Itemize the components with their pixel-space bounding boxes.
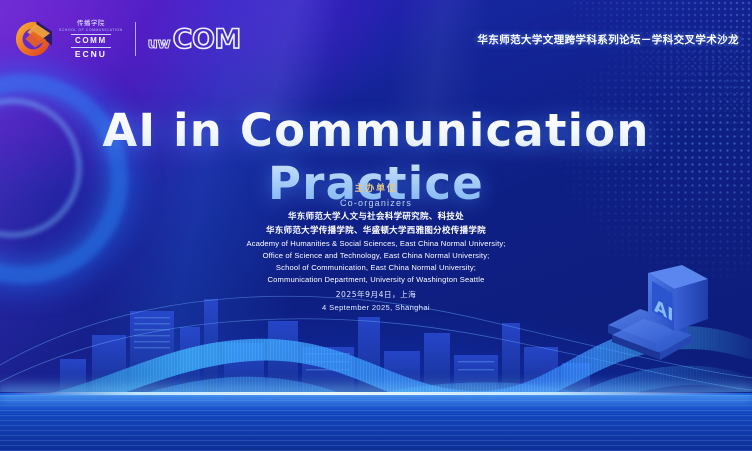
ecnu-divider-rule	[71, 34, 111, 35]
ecnu-comm-text: COMM	[75, 37, 107, 45]
ecnu-logo[interactable]: 传播学院 SCHOOL OF COMMUNICATION COMM ECNU	[14, 20, 123, 58]
ecnu-abbr-text: ECNU	[75, 50, 107, 59]
ecnu-wordmark: 传播学院 SCHOOL OF COMMUNICATION COMM ECNU	[59, 20, 123, 58]
event-date-block: 2025年9月4日，上海 4 September 2025, Shanghai	[0, 288, 752, 315]
ecnu-c-mark-icon	[14, 20, 52, 58]
organizer-line-en: Academy of Humanities & Social Sciences,…	[0, 238, 752, 250]
logo-group: 传播学院 SCHOOL OF COMMUNICATION COMM ECNU u…	[14, 20, 241, 58]
organizers-block: 主办单位 Co-organizers 华东师范大学人文与社会科学研究院、科技处 …	[0, 183, 752, 286]
uw-com-logo[interactable]: uw COM	[148, 24, 241, 55]
floor-grid-lines	[0, 393, 752, 451]
uw-logo-big-text: COM	[173, 24, 241, 55]
ecnu-divider-rule-2	[71, 47, 111, 48]
event-date-cn: 2025年9月4日，上海	[0, 288, 752, 301]
organizer-line-en: Office of Science and Technology, East C…	[0, 250, 752, 262]
logo-separator	[135, 22, 136, 56]
poster-canvas: AI	[0, 0, 752, 451]
poster-header: 传播学院 SCHOOL OF COMMUNICATION COMM ECNU u…	[0, 0, 752, 70]
organizer-line-en: School of Communication, East China Norm…	[0, 262, 752, 274]
organizer-line-cn: 华东师范大学传播学院、华盛顿大学西雅图分校传播学院	[0, 225, 752, 239]
ecnu-cn-pinyin: SCHOOL OF COMMUNICATION	[59, 29, 123, 32]
horizon-light-streak	[0, 392, 752, 395]
organizer-line-cn: 华东师范大学人文与社会科学研究院、科技处	[0, 211, 752, 225]
organizer-line-en: Communication Department, University of …	[0, 274, 752, 286]
organizers-heading-cn: 主办单位	[0, 183, 752, 197]
forum-series-title: 华东师范大学文理跨学科系列论坛－学科交叉学术沙龙	[477, 32, 739, 47]
uw-logo-small-text: uw	[148, 36, 171, 52]
event-date-en: 4 September 2025, Shanghai	[0, 301, 752, 314]
organizers-heading-en: Co-organizers	[0, 197, 752, 211]
ecnu-cn-name: 传播学院	[77, 20, 105, 27]
